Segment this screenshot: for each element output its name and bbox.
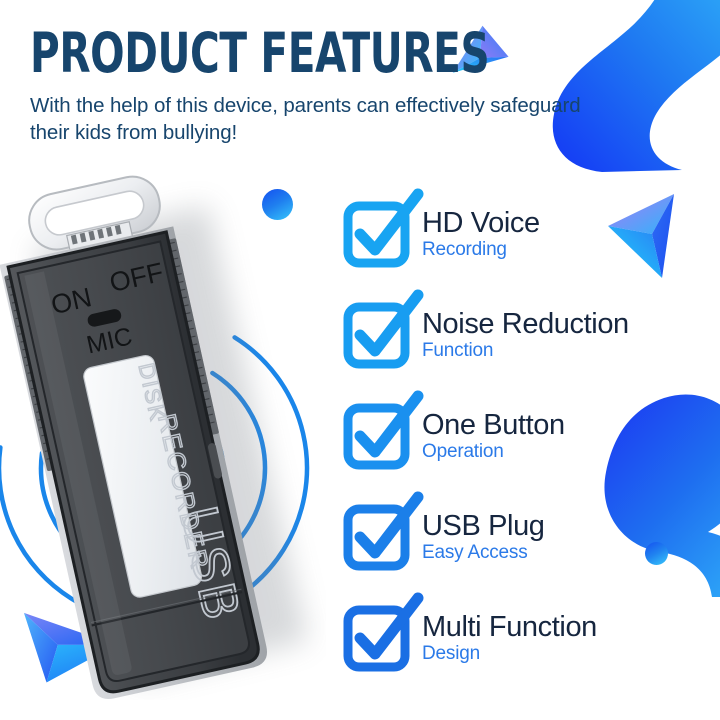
feature-text: USB Plug Easy Access (422, 508, 545, 564)
feature-item-noise-reduction: Noise Reduction Function (344, 283, 720, 384)
feature-title: USB Plug (422, 511, 545, 541)
checkbox-checked-icon (344, 203, 407, 266)
page-title: PRODUCT FEATURES (30, 26, 497, 81)
feature-item-hd-voice: HD Voice Recording (344, 182, 720, 283)
feature-text: One Button Operation (422, 407, 565, 463)
feature-item-usb-plug: USB Plug Easy Access (344, 485, 720, 586)
page-subtitle: With the help of this device, parents ca… (30, 92, 590, 146)
feature-subtitle: Design (422, 643, 597, 664)
feature-subtitle: Operation (422, 441, 565, 462)
feature-item-multi-function: Multi Function Design (344, 586, 720, 687)
header: PRODUCT FEATURES With the help of this d… (30, 26, 600, 146)
checkbox-checked-icon (344, 304, 407, 367)
feature-text: Noise Reduction Function (422, 306, 629, 362)
checkbox-checked-icon (344, 506, 407, 569)
feature-list: HD Voice Recording Noise Reduction Funct… (344, 182, 720, 687)
feature-title: One Button (422, 410, 565, 440)
feature-text: Multi Function Design (422, 609, 597, 665)
product-image-usb-recorder: ON OFF MIC DISK RECORDER USB (0, 155, 326, 700)
checkbox-checked-icon (344, 607, 407, 670)
feature-title: HD Voice (422, 208, 540, 238)
feature-title: Multi Function (422, 612, 597, 642)
infographic-canvas: ON OFF MIC DISK RECORDER USB PRODUCT FEA… (0, 0, 720, 720)
feature-text: HD Voice Recording (422, 205, 540, 261)
checkbox-checked-icon (344, 405, 407, 468)
feature-title: Noise Reduction (422, 309, 629, 339)
feature-subtitle: Function (422, 340, 629, 361)
feature-item-one-button: One Button Operation (344, 384, 720, 485)
feature-subtitle: Easy Access (422, 542, 545, 563)
feature-subtitle: Recording (422, 239, 540, 260)
